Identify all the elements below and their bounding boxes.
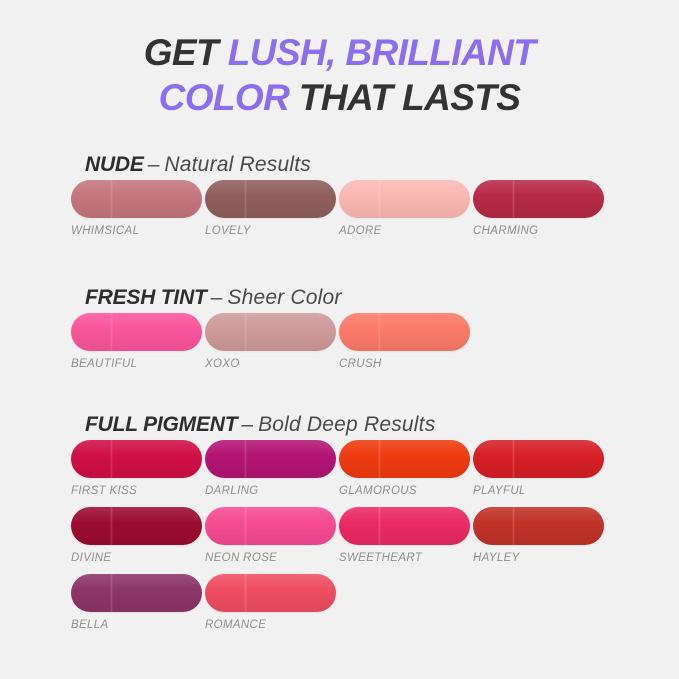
shade-name-label: CHARMING [473, 225, 604, 237]
section-title: NUDE [85, 153, 144, 177]
section-heading: NUDE–Natural Results [85, 150, 679, 180]
shade-name-label: LOVELY [205, 225, 336, 237]
shade-name-label: PLAYFUL [473, 485, 604, 497]
shade-swatch[interactable] [205, 440, 336, 478]
swatch-grid: WHIMSICALLOVELYADORECHARMING [71, 180, 679, 247]
headline-lush-brilliant: LUSH, BRILLIANT [228, 32, 536, 73]
section-subtitle: Natural Results [164, 153, 311, 177]
shade-name-label: DARLING [205, 485, 336, 497]
swatch-cell[interactable]: PLAYFUL [473, 440, 604, 497]
swatch-cell[interactable]: NEON ROSE [205, 507, 336, 564]
swatch-grid: BEAUTIFULXOXOCRUSH [71, 313, 679, 380]
lipstick-shade-chart: GET LUSH, BRILLIANT COLOR THAT LASTS NUD… [0, 0, 679, 679]
shade-swatch[interactable] [71, 507, 202, 545]
section-subtitle: Sheer Color [227, 286, 341, 310]
swatch-cell[interactable]: CRUSH [339, 313, 470, 370]
swatch-grid: FIRST KISSDARLINGGLAMOROUSPLAYFULDIVINEN… [71, 440, 679, 641]
section-full-pigment: FULL PIGMENT–Bold Deep ResultsFIRST KISS… [0, 410, 679, 641]
shade-swatch[interactable] [473, 180, 604, 218]
headline-get: GET [144, 32, 228, 73]
swatch-cell[interactable]: ROMANCE [205, 574, 336, 631]
swatch-row: WHIMSICALLOVELYADORECHARMING [71, 180, 679, 247]
headline-line-1: GET LUSH, BRILLIANT [0, 30, 679, 75]
swatch-cell[interactable]: WHIMSICAL [71, 180, 202, 237]
shade-swatch[interactable] [71, 313, 202, 351]
shade-swatch[interactable] [339, 180, 470, 218]
swatch-row: DIVINENEON ROSESWEETHEARTHAYLEY [71, 507, 679, 574]
shade-swatch[interactable] [339, 507, 470, 545]
shade-name-label: ROMANCE [205, 619, 336, 631]
shade-swatch[interactable] [205, 574, 336, 612]
shade-swatch[interactable] [205, 507, 336, 545]
shade-name-label: NEON ROSE [205, 552, 336, 564]
shade-swatch[interactable] [71, 574, 202, 612]
section-fresh-tint: FRESH TINT–Sheer ColorBEAUTIFULXOXOCRUSH [0, 283, 679, 380]
swatch-cell[interactable]: ADORE [339, 180, 470, 237]
shade-name-label: SWEETHEART [339, 552, 470, 564]
section-subtitle: Bold Deep Results [258, 413, 435, 437]
shade-name-label: GLAMOROUS [339, 485, 470, 497]
swatch-cell[interactable]: DARLING [205, 440, 336, 497]
swatch-cell[interactable]: DIVINE [71, 507, 202, 564]
shade-name-label: WHIMSICAL [71, 225, 202, 237]
shade-name-label: FIRST KISS [71, 485, 202, 497]
shade-swatch[interactable] [71, 180, 202, 218]
headline-color: COLOR [159, 77, 290, 118]
swatch-cell[interactable]: GLAMOROUS [339, 440, 470, 497]
headline-that-lasts: THAT LASTS [289, 77, 520, 118]
swatch-cell[interactable]: FIRST KISS [71, 440, 202, 497]
shade-swatch[interactable] [339, 440, 470, 478]
page-headline: GET LUSH, BRILLIANT COLOR THAT LASTS [0, 30, 679, 120]
swatch-row: BEAUTIFULXOXOCRUSH [71, 313, 679, 380]
shade-swatch[interactable] [205, 313, 336, 351]
swatch-row: FIRST KISSDARLINGGLAMOROUSPLAYFUL [71, 440, 679, 507]
shade-name-label: DIVINE [71, 552, 202, 564]
shade-name-label: ADORE [339, 225, 470, 237]
section-nude: NUDE–Natural ResultsWHIMSICALLOVELYADORE… [0, 150, 679, 247]
shade-swatch[interactable] [205, 180, 336, 218]
shade-swatch[interactable] [473, 440, 604, 478]
section-heading: FRESH TINT–Sheer Color [85, 283, 679, 313]
shade-swatch[interactable] [473, 507, 604, 545]
shade-name-label: HAYLEY [473, 552, 604, 564]
section-heading: FULL PIGMENT–Bold Deep Results [85, 410, 679, 440]
shade-swatch[interactable] [339, 313, 470, 351]
section-dash: – [241, 413, 253, 437]
shade-name-label: BEAUTIFUL [71, 358, 202, 370]
section-dash: – [148, 153, 160, 177]
shade-name-label: CRUSH [339, 358, 470, 370]
swatch-cell[interactable]: XOXO [205, 313, 336, 370]
shade-name-label: BELLA [71, 619, 202, 631]
swatch-row: BELLAROMANCE [71, 574, 679, 641]
swatch-cell[interactable]: BEAUTIFUL [71, 313, 202, 370]
shade-name-label: XOXO [205, 358, 336, 370]
swatch-cell[interactable]: SWEETHEART [339, 507, 470, 564]
shade-swatch[interactable] [71, 440, 202, 478]
swatch-cell[interactable]: CHARMING [473, 180, 604, 237]
swatch-cell[interactable]: LOVELY [205, 180, 336, 237]
section-title: FRESH TINT [85, 286, 207, 310]
swatch-cell[interactable]: BELLA [71, 574, 202, 631]
section-dash: – [211, 286, 223, 310]
swatch-cell[interactable]: HAYLEY [473, 507, 604, 564]
section-title: FULL PIGMENT [85, 413, 237, 437]
headline-line-2: COLOR THAT LASTS [0, 75, 679, 120]
